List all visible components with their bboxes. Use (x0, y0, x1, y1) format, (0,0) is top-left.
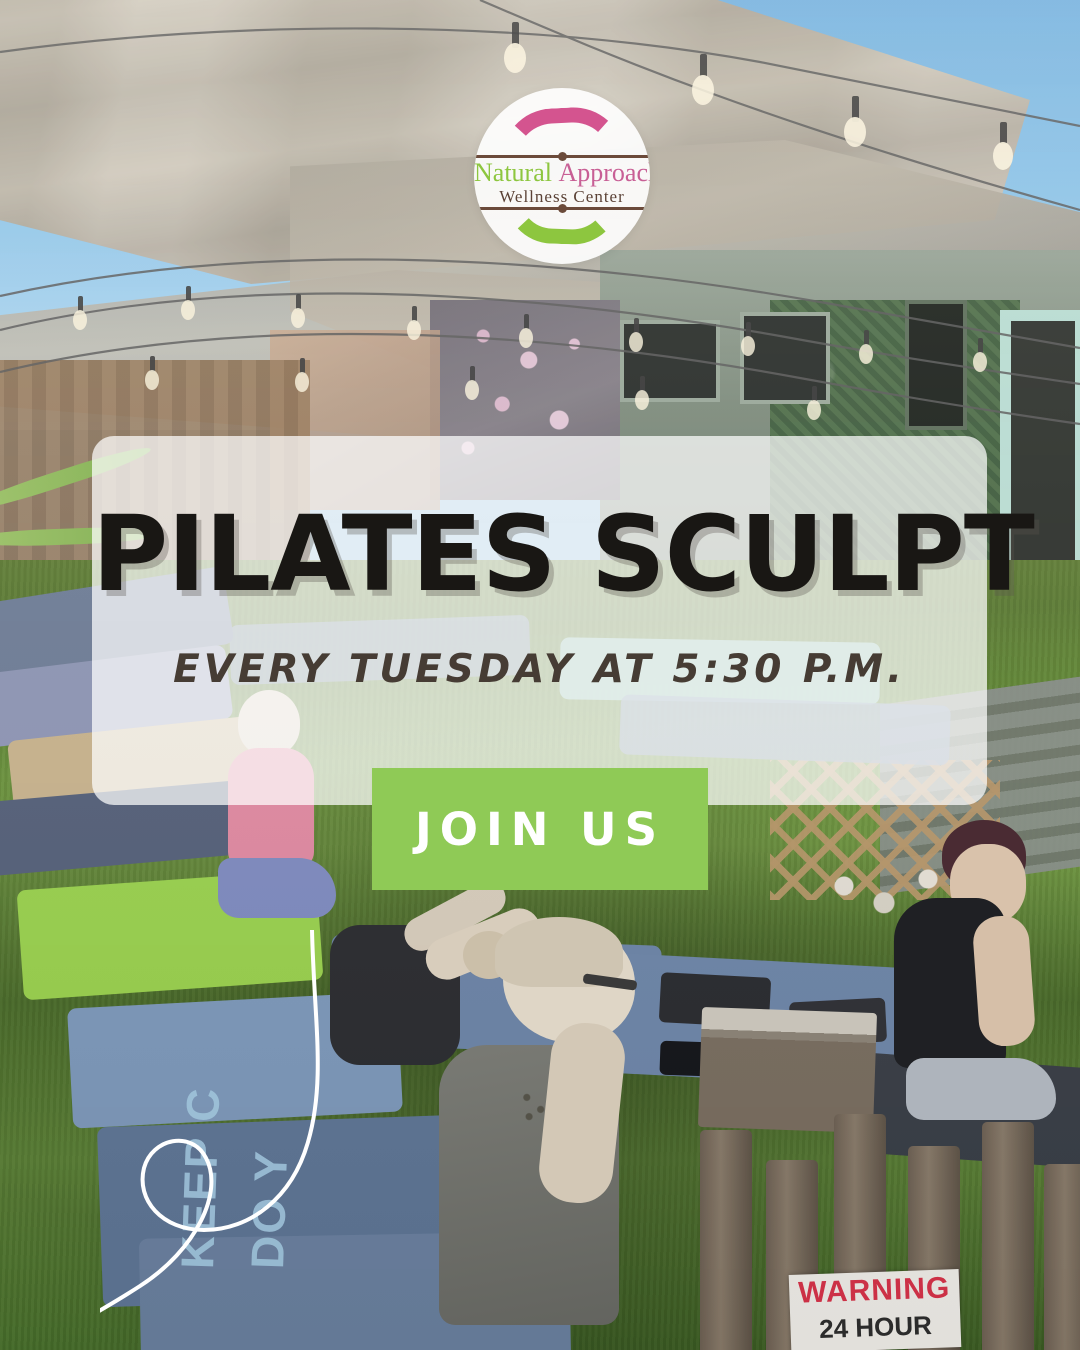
poster-canvas: KEEP C DO Y WARNING (0, 0, 1080, 1350)
class-participant-right (880, 820, 1060, 1120)
brand-logo: Natural Approach Wellness Center (474, 88, 650, 264)
join-us-button[interactable]: JOIN US (372, 768, 708, 890)
class-participant-foreground (395, 915, 695, 1335)
logo-arc-green-icon (503, 194, 621, 246)
logo-name: Natural Approach (474, 160, 650, 186)
page-title: PILATES SCULPT (92, 502, 987, 606)
logo-name-part2: Approach (558, 158, 650, 187)
join-us-button-label: JOIN US (415, 803, 665, 856)
schedule-subtitle: EVERY TUESDAY AT 5:30 P.M. (92, 650, 987, 689)
content-card-panel (92, 436, 987, 805)
logo-name-part1: Natural (474, 158, 552, 187)
